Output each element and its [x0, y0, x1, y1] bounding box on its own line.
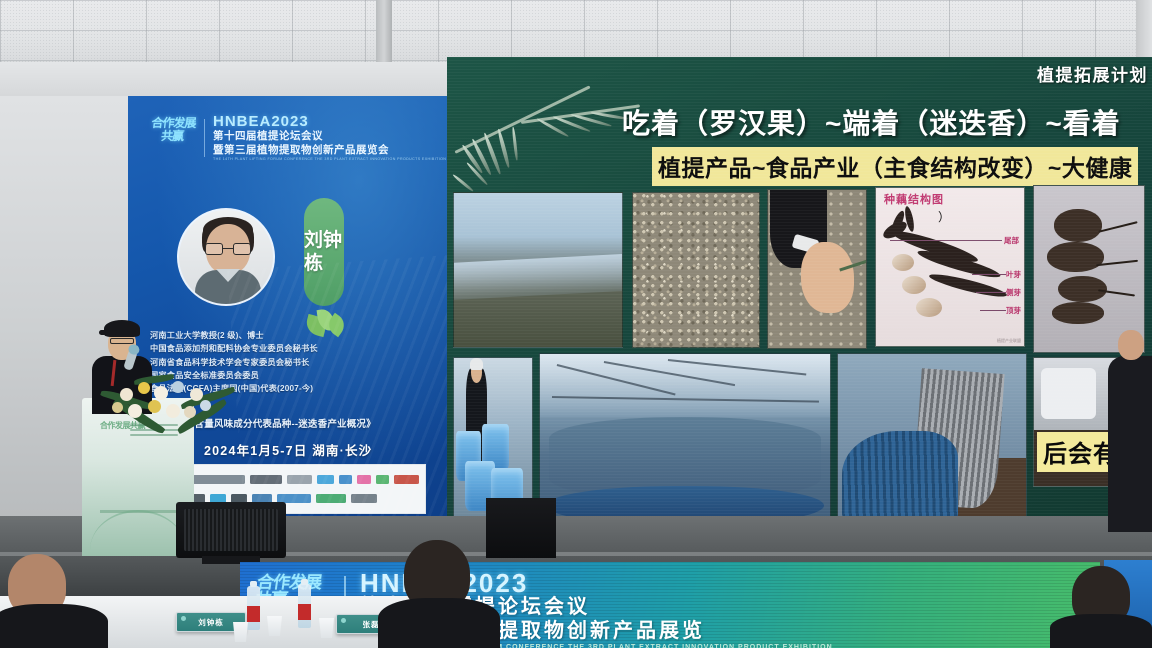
speaker-portrait: [177, 208, 275, 306]
diagram-label-leaf-bud: 叶芽: [1006, 269, 1021, 280]
sponsor-logo: [351, 494, 377, 503]
diagram-label-top-bud: 顶芽: [1006, 305, 1021, 316]
credential-line: 中国食品添加剂和配料协会专业委员会秘书长: [150, 342, 446, 355]
leaf-icon: [304, 308, 348, 338]
conference-line1: 第十四届植提论坛会议: [213, 130, 448, 144]
credential-line: 河南工业大学教授(2 级)、博士: [150, 329, 446, 342]
photo-hand-planting: [767, 189, 867, 349]
scene-root: 合作发展共赢 HNBEA2023 第十四届植提论坛会议 暨第三届植物提取物创新产…: [0, 0, 1152, 648]
diagram-leader-line: [976, 292, 1006, 293]
sponsor-logo: [250, 475, 282, 484]
photo-detail-tank: [1041, 368, 1096, 419]
person-right-edge: [1108, 330, 1152, 530]
sponsor-logo: [394, 475, 419, 484]
diagram-leader-line: [972, 274, 1006, 275]
slide-headline: 吃着（罗汉果）~端着（迷迭香）~看着: [622, 102, 1152, 142]
person-right-torso: [1108, 356, 1152, 532]
stage-speaker-box: [486, 498, 556, 558]
diagram-label-side-bud: 侧芽: [1006, 287, 1021, 298]
sponsor-row: [193, 471, 419, 489]
diagram-credit: 植提产业联盟: [997, 338, 1021, 344]
photo-pond-liner: [837, 353, 1027, 527]
sponsor-logo: [316, 494, 346, 503]
glasses-icon: [205, 243, 251, 255]
photo-wetland-shoreline: [453, 192, 623, 348]
sponsor-logo: [339, 475, 352, 484]
ceiling-grid: [0, 0, 1152, 62]
diagram-label-tail: 尾部: [1004, 235, 1019, 246]
stage-monitor-speaker: [176, 502, 286, 558]
conference-line2: 暨第三届植物提取物创新产品展览会: [213, 144, 448, 158]
presenter-glasses-icon: [110, 338, 134, 344]
rosemary-leaf: [511, 127, 518, 161]
speaker-name-pill: 刘钟栋: [304, 198, 344, 306]
slide-subline: 植提产品~食品产业（主食结构改变）~大健康: [652, 147, 1138, 186]
audience-member-body: [0, 604, 108, 648]
banner-logo: 合作发展共赢 HNBEA2023 第十四届植提论坛会议 暨第三届植物提取物创新产…: [148, 114, 448, 162]
sponsor-logo: [376, 475, 389, 484]
diagram-title: 种藕结构图: [884, 191, 944, 207]
sponsor-logo: [193, 475, 245, 484]
rosemary-leaf: [452, 173, 474, 192]
sponsor-logo: [287, 475, 312, 484]
photo-lotus-root-diagram: 种藕结构图 ） 尾部 叶芽 侧芽 顶芽 植提产业联盟: [875, 187, 1025, 347]
photo-detail-blue-liner: [842, 431, 959, 521]
photo-detail-hand: [801, 242, 854, 313]
ceiling-beam: [376, 0, 392, 62]
ceiling-panels: [0, 0, 1152, 62]
conference-acronym: HNBEA2023: [213, 114, 448, 130]
logo-divider: [204, 119, 205, 157]
conference-english: THE 14TH PLANT LIFTING FORUM CONFERENCE …: [213, 157, 448, 161]
photo-gravel-field: [632, 192, 760, 348]
audience-member-body: [1050, 614, 1152, 648]
person-right-head: [1118, 330, 1144, 360]
logo-text: HNBEA2023 第十四届植提论坛会议 暨第三届植物提取物创新产品展览会 TH…: [213, 114, 448, 161]
flower-arrangement: [104, 372, 230, 436]
sponsor-logo: [317, 475, 334, 484]
presenter-cap: [104, 320, 140, 337]
photo-greenhouse-pond: [539, 353, 831, 527]
credential-line: 河南省食品科学技术学会专家委员会秘书长: [150, 356, 446, 369]
talk-date-location: 2024年1月5-7日 湖南·长沙: [204, 440, 372, 459]
diagram-marker: ）: [938, 208, 950, 225]
water-bottle: [247, 586, 260, 630]
photo-detail-greenhouse-roof: [540, 354, 830, 417]
sponsor-logo: [357, 475, 370, 484]
diagram-leader-line: [980, 310, 1006, 311]
rosemary-leaf: [497, 128, 510, 168]
portrait-torso: [195, 270, 261, 304]
diagram-node: [892, 254, 914, 271]
audience-member-body: [378, 598, 500, 648]
water-bottle: [298, 584, 311, 628]
slide-corner-title: 植提拓展计划: [1037, 61, 1148, 86]
diagram-node: [902, 276, 926, 294]
photo-tuber-samples: [1033, 185, 1145, 353]
podium-arc-decor: [90, 510, 186, 550]
diagram-leader-line: [890, 240, 1002, 241]
diagram-node: [916, 298, 942, 317]
photo-detail-cap: [470, 358, 482, 370]
calligraphy-mark: 合作发展共赢: [146, 115, 199, 161]
